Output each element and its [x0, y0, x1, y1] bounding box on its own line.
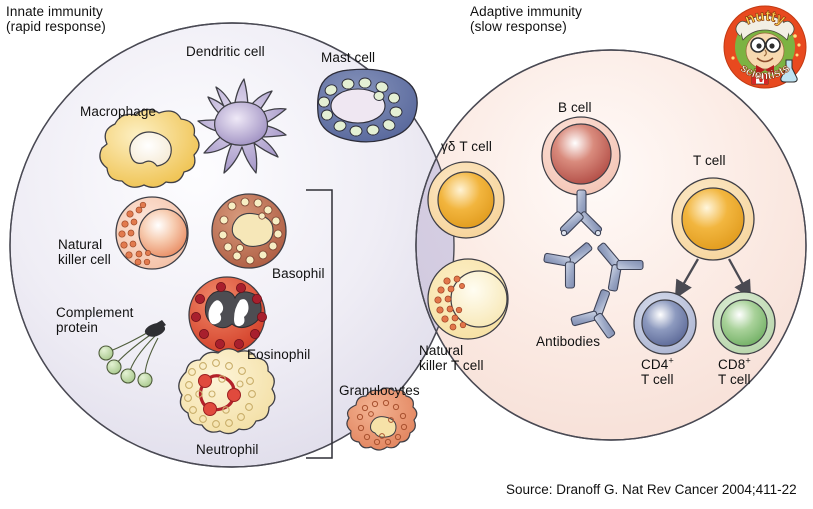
t-cell — [672, 178, 754, 260]
innate-title: Innate immunity (rapid response) — [6, 4, 106, 34]
natural-killer-cell — [116, 197, 188, 269]
mast-cell — [318, 69, 418, 142]
nutty-scientists-logo: nutty scientists — [724, 6, 806, 88]
label-natural-killer-t-cell: Natural killer T cell — [419, 343, 484, 373]
adaptive-title: Adaptive immunity (slow response) — [470, 4, 582, 34]
label-basophil: Basophil — [272, 266, 325, 281]
diagram-canvas: nutty scientists — [0, 0, 813, 509]
eosinophil-cell — [189, 277, 267, 353]
label-natural-killer-cell: Natural killer cell — [58, 237, 111, 267]
cd8-t-cell — [713, 292, 775, 354]
label-neutrophil: Neutrophil — [196, 442, 259, 457]
label-antibodies: Antibodies — [536, 334, 600, 349]
b-cell — [542, 117, 620, 195]
label-b-cell: B cell — [558, 100, 592, 115]
label-macrophage: Macrophage — [80, 104, 156, 119]
label-complement-protein: Complement protein — [56, 305, 134, 335]
label-cd8-t-cell: CD8+T cell — [718, 357, 751, 387]
basophil-cell — [212, 194, 286, 268]
gamma-delta-t-cell — [428, 162, 504, 238]
source-citation: Source: Dranoff G. Nat Rev Cancer 2004;4… — [506, 482, 797, 497]
label-cd4-t-cell: CD4+T cell — [641, 357, 674, 387]
label-granulocytes: Granulocytes — [339, 383, 420, 398]
natural-killer-t-cell — [428, 259, 508, 339]
label-gamma-delta-t-cell: γδ T cell — [441, 139, 492, 154]
cd4-t-cell — [634, 292, 696, 354]
label-mast-cell: Mast cell — [321, 50, 375, 65]
label-dendritic-cell: Dendritic cell — [186, 44, 265, 59]
label-eosinophil: Eosinophil — [247, 347, 310, 362]
immunity-venn-diagram: nutty scientists Innate immunity (rapid … — [0, 0, 813, 509]
label-t-cell: T cell — [693, 153, 726, 168]
